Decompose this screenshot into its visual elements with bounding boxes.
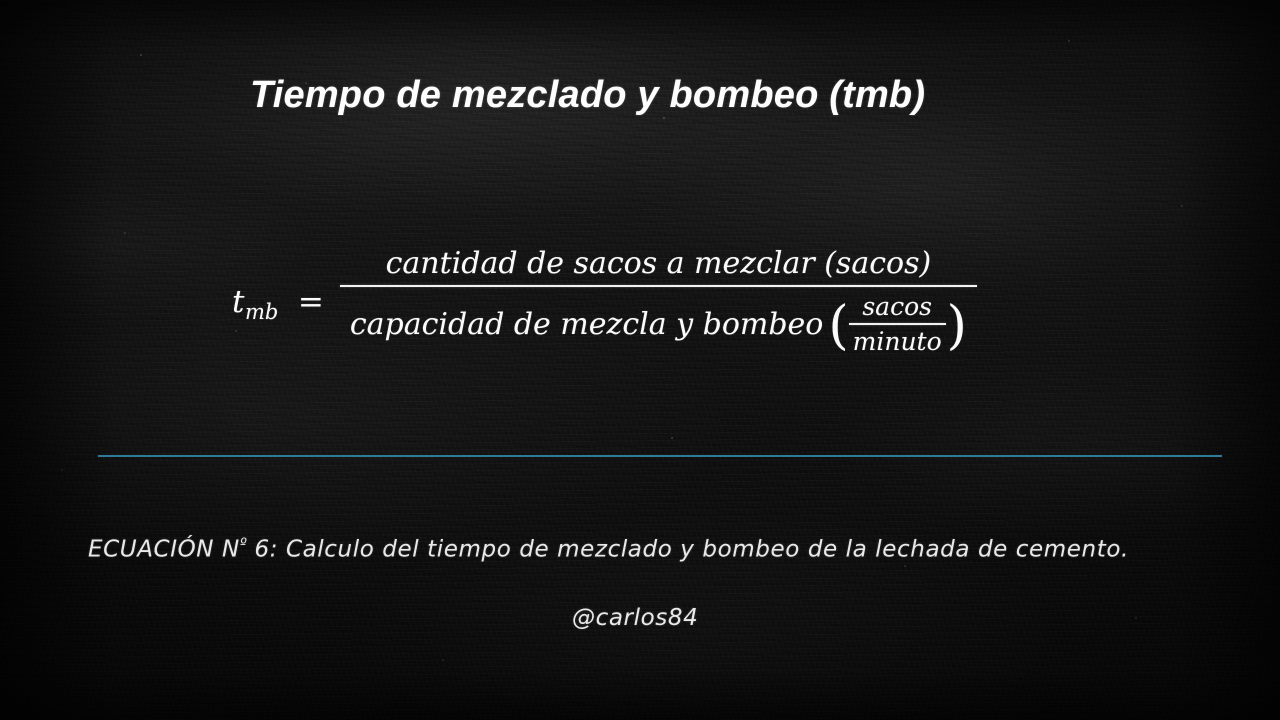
unit-fraction: sacos minuto xyxy=(849,293,946,355)
author-handle: @carlos84 xyxy=(572,605,698,631)
caption-ordinal-mark: º xyxy=(240,536,247,552)
fraction-denominator: capacidad de mezcla y bombeo ( sacos min… xyxy=(340,287,977,356)
equation-block: tmb = cantidad de sacos a mezclar (sacos… xyxy=(232,248,977,356)
denominator-text: capacidad de mezcla y bombeo xyxy=(350,309,824,341)
equation-left-hand-side: tmb xyxy=(232,284,278,320)
equation-caption: ECUACIÓN Nº 6: Calculo del tiempo de mez… xyxy=(88,536,1129,563)
variable-subscript-mb: mb xyxy=(245,300,278,324)
horizontal-divider-rule xyxy=(98,455,1222,457)
equals-sign: = xyxy=(298,284,324,320)
caption-label: ECUACIÓN N xyxy=(88,537,240,563)
caption-description: 6: Calculo del tiempo de mezclado y bomb… xyxy=(247,537,1129,563)
paren-close: ) xyxy=(947,305,967,348)
main-fraction: cantidad de sacos a mezclar (sacos) capa… xyxy=(340,248,977,356)
variable-t: t xyxy=(232,284,244,320)
fraction-numerator: cantidad de sacos a mezclar (sacos) xyxy=(376,248,942,285)
chalkboard-slide: Tiempo de mezclado y bombeo (tmb) tmb = … xyxy=(0,0,1280,720)
unit-fraction-denominator: minuto xyxy=(849,325,946,355)
slide-title: Tiempo de mezclado y bombeo (tmb) xyxy=(250,74,925,117)
slide-content: Tiempo de mezclado y bombeo (tmb) tmb = … xyxy=(0,0,1280,720)
paren-open: ( xyxy=(828,305,848,348)
unit-fraction-numerator: sacos xyxy=(858,293,936,323)
denominator-row: capacidad de mezcla y bombeo ( sacos min… xyxy=(350,294,967,356)
